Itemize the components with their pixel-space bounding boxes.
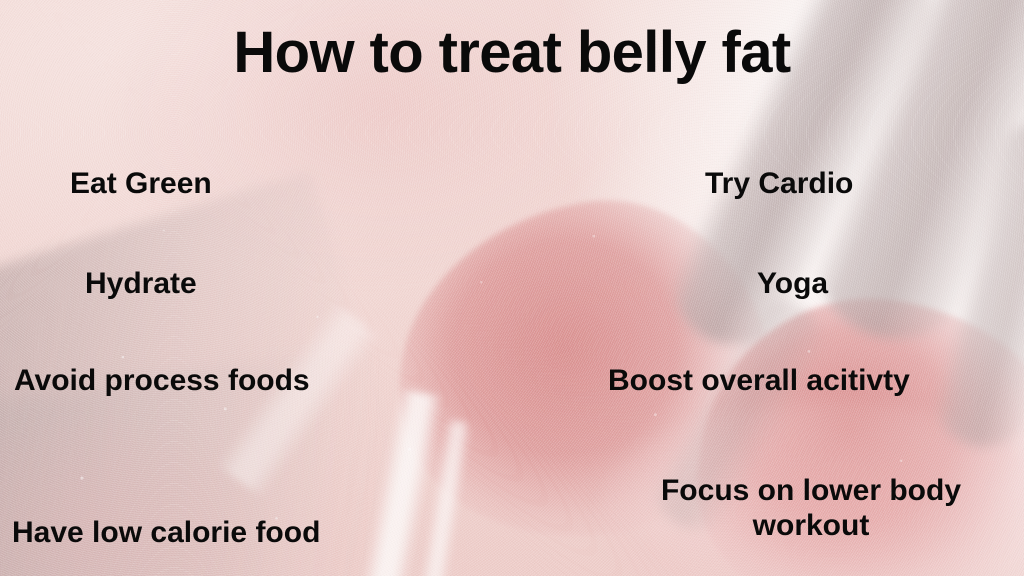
tip-avoid-processed-foods: Avoid process foods <box>14 363 310 398</box>
tip-hydrate: Hydrate <box>85 266 197 301</box>
tip-focus-on-lower-body-workout: Focus on lower body workout <box>625 473 997 544</box>
tip-boost-overall-activity: Boost overall acitivty <box>608 363 910 398</box>
tip-eat-green: Eat Green <box>70 166 212 201</box>
poster-content: How to treat belly fat Eat Green Hydrate… <box>0 0 1024 576</box>
page-title: How to treat belly fat <box>0 20 1024 87</box>
poster: How to treat belly fat Eat Green Hydrate… <box>0 0 1024 576</box>
tip-have-low-calorie-food: Have low calorie food <box>12 515 320 550</box>
tip-yoga: Yoga <box>757 266 828 301</box>
tip-try-cardio: Try Cardio <box>705 166 853 201</box>
